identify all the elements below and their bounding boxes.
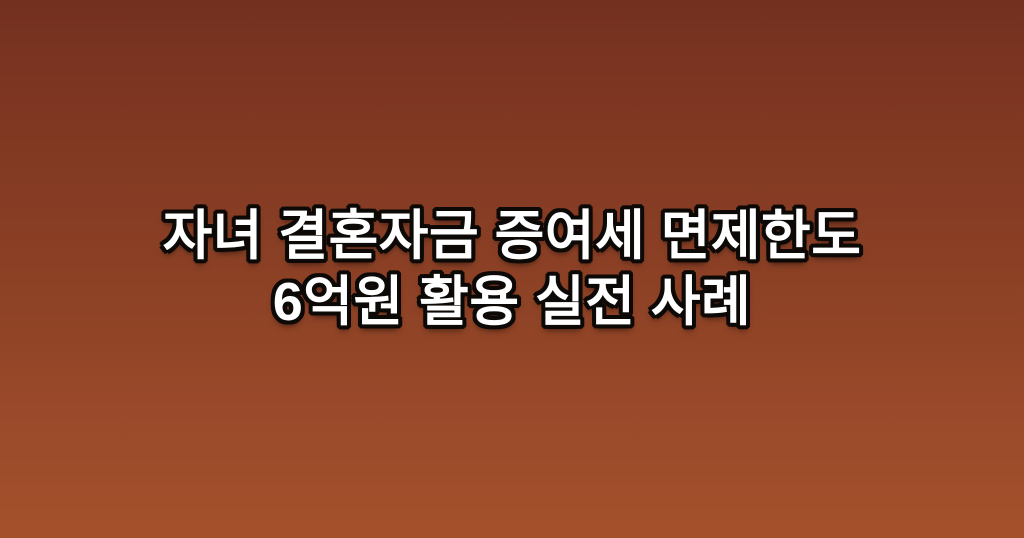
title-block: 자녀 결혼자금 증여세 면제한도 6억원 활용 실전 사례	[0, 203, 1024, 335]
title-card: 자녀 결혼자금 증여세 면제한도 6억원 활용 실전 사례	[0, 0, 1024, 538]
title-line-2: 6억원 활용 실전 사례	[40, 269, 984, 335]
title-line-1: 자녀 결혼자금 증여세 면제한도	[40, 203, 984, 269]
